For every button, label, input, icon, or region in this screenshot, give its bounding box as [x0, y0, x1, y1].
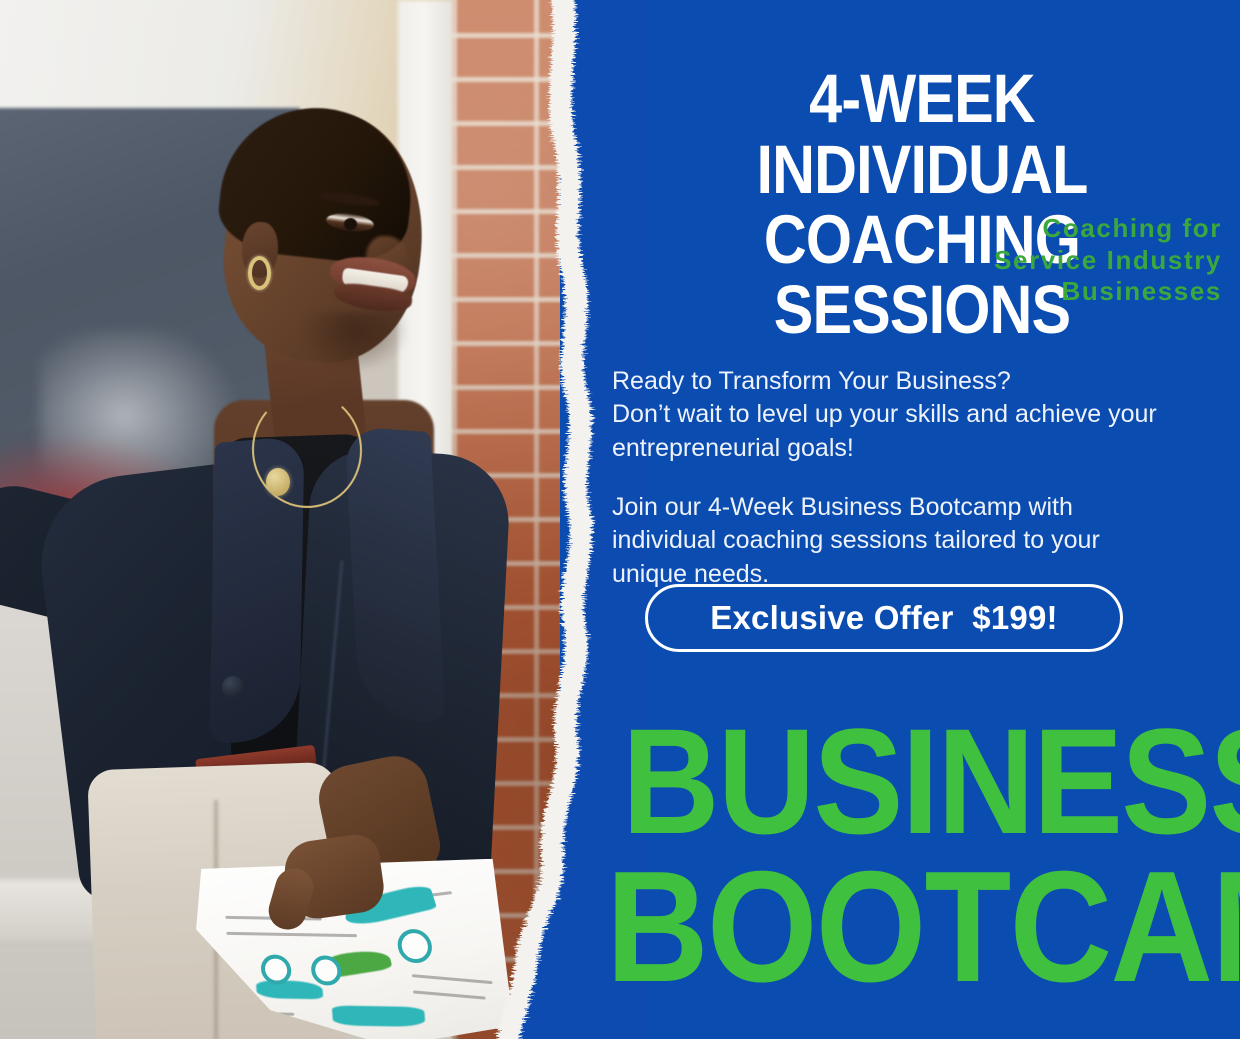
- subtitle: Coaching for Service Industry Businesses: [802, 213, 1222, 308]
- hoop-earring: [248, 256, 271, 290]
- eye-pupil: [344, 218, 357, 230]
- chin-shadow: [300, 312, 410, 372]
- body-paragraph-1: Ready to Transform Your Business? Don’t …: [612, 365, 1232, 465]
- exclusive-offer-button[interactable]: Exclusive Offer $199!: [645, 584, 1123, 652]
- big-word-bootcamp: Bootcamp: [606, 855, 1240, 1000]
- body-paragraph-2: Join our 4-Week Business Bootcamp with i…: [612, 491, 1182, 591]
- promotional-poster: 4-Week Individual Coaching Sessions Coac…: [0, 0, 1240, 1039]
- poster-content: 4-Week Individual Coaching Sessions Coac…: [560, 0, 1240, 1039]
- presenter-photo: [0, 0, 600, 1039]
- necklace-pendant: [266, 468, 290, 496]
- presenter-figure: [0, 0, 600, 1039]
- big-word-business: Business: [622, 712, 1240, 850]
- blazer-button: [222, 676, 244, 698]
